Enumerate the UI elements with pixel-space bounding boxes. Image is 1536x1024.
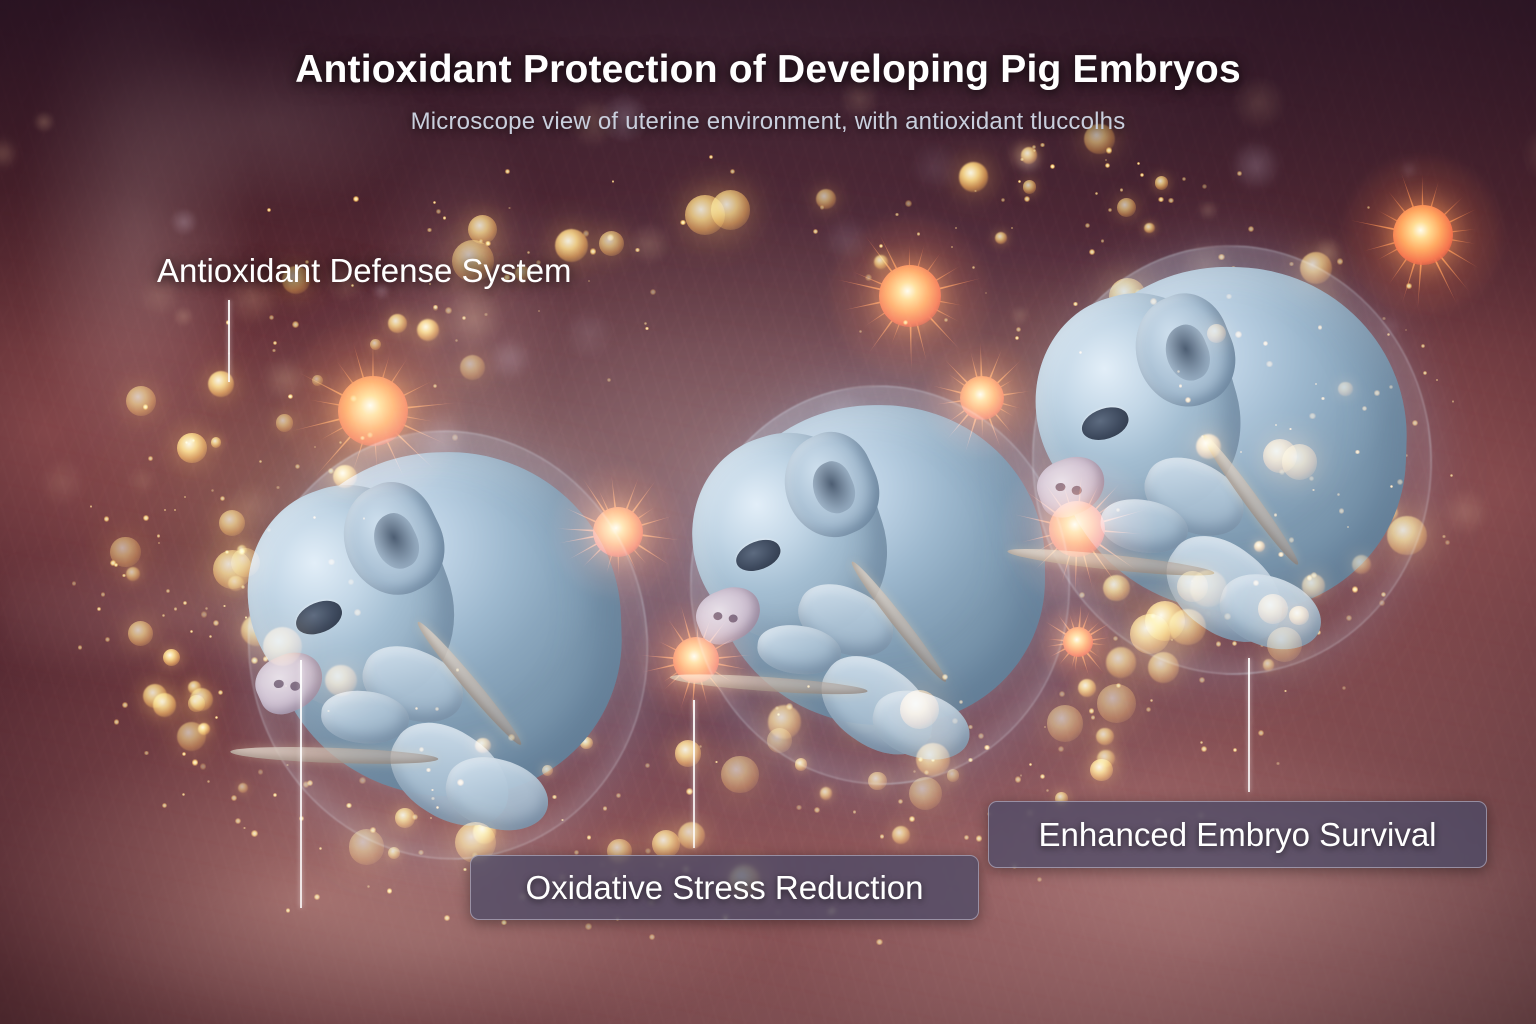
antioxidant-spark [952, 718, 958, 724]
antioxidant-particle [542, 765, 553, 776]
antioxidant-particle [820, 787, 832, 799]
antioxidant-spark [263, 656, 268, 661]
antioxidant-particle [198, 723, 210, 735]
antioxidant-spark [1226, 294, 1232, 300]
antioxidant-particle [1254, 541, 1265, 552]
antioxidant-spark [1105, 163, 1110, 168]
antioxidant-particle [1300, 252, 1332, 284]
antioxidant-spark [288, 395, 291, 398]
antioxidant-spark [231, 795, 237, 801]
antioxidant-spark [267, 208, 271, 212]
antioxidant-spark [314, 894, 320, 900]
antioxidant-spark [583, 230, 590, 237]
antioxidant-spark [213, 620, 219, 626]
antioxidant-spark [1120, 188, 1123, 191]
antioxidant-spark [917, 232, 920, 235]
antioxidant-spark [1311, 572, 1317, 578]
antioxidant-spark [1312, 489, 1314, 491]
antioxidant-particle [1267, 627, 1302, 662]
antioxidant-spark [433, 305, 438, 310]
antioxidant-spark [796, 805, 802, 811]
antioxidant-particle [1282, 444, 1317, 479]
antioxidant-particle [1106, 647, 1136, 677]
antioxidant-spark [272, 349, 276, 353]
antioxidant-spark [307, 780, 313, 786]
antioxidant-spark [1355, 450, 1360, 455]
antioxidant-spark [616, 793, 621, 798]
antioxidant-spark [1397, 479, 1403, 485]
antioxidant-spark [455, 339, 458, 342]
antioxidant-spark [1275, 424, 1277, 426]
antioxidant-spark [183, 601, 187, 605]
leader-line-antioxidant-defense-system-lower [300, 660, 302, 908]
antioxidant-particle [153, 693, 176, 716]
antioxidant-particle [711, 190, 751, 230]
antioxidant-spark [1150, 613, 1156, 619]
antioxidant-spark [273, 341, 278, 346]
antioxidant-spark [1278, 552, 1284, 558]
callout-antioxidant-defense-system: Antioxidant Defense System [157, 252, 572, 290]
antioxidant-particle [1177, 571, 1208, 602]
antioxidant-spark [267, 528, 270, 531]
antioxidant-spark [78, 645, 82, 649]
antioxidant-spark [859, 330, 862, 333]
antioxidant-spark [1337, 258, 1344, 265]
antioxidant-particle [1130, 614, 1170, 654]
antioxidant-spark [1263, 341, 1268, 346]
antioxidant-spark [1309, 476, 1314, 481]
antioxidant-spark [1352, 586, 1358, 592]
antioxidant-particle [916, 743, 950, 777]
antioxidant-spark [215, 716, 218, 719]
antioxidant-particle [219, 510, 245, 536]
callout-oxidative-stress-reduction-label: Oxidative Stress Reduction [525, 869, 923, 907]
antioxidant-particle [126, 567, 140, 581]
antioxidant-spark [431, 797, 434, 800]
antioxidant-spark [1113, 636, 1118, 641]
antioxidant-spark [97, 607, 101, 611]
antioxidant-spark [1116, 508, 1120, 512]
antioxidant-spark [607, 378, 611, 382]
antioxidant-spark [1191, 580, 1193, 582]
antioxidant-spark [462, 316, 466, 320]
antioxidant-spark [367, 432, 373, 438]
antioxidant-spark [1266, 361, 1273, 368]
antioxidant-spark [313, 516, 316, 519]
antioxidant-spark [285, 685, 287, 687]
antioxidant-spark [501, 920, 506, 925]
antioxidant-particle [211, 437, 221, 447]
antioxidant-spark [354, 609, 361, 616]
antioxidant-spark [876, 939, 882, 945]
antioxidant-spark [276, 486, 280, 490]
antioxidant-spark [427, 228, 432, 233]
antioxidant-spark [1279, 469, 1285, 475]
antioxidant-spark [1059, 691, 1065, 697]
antioxidant-spark [1374, 390, 1380, 396]
antioxidant-particle [1207, 324, 1226, 343]
antioxidant-spark [143, 404, 149, 410]
antioxidant-spark [426, 768, 430, 772]
antioxidant-particle [1148, 652, 1179, 683]
antioxidant-spark [328, 559, 334, 565]
antioxidant-spark [1179, 384, 1183, 388]
antioxidant-spark [588, 280, 590, 282]
antioxidant-spark [1342, 686, 1347, 691]
antioxidant-spark [942, 674, 949, 681]
antioxidant-spark [122, 702, 128, 708]
antioxidant-particle [959, 162, 988, 191]
antioxidant-spark [1046, 789, 1049, 792]
antioxidant-particle [652, 830, 680, 858]
antioxidant-spark [1201, 435, 1204, 438]
antioxidant-spark [814, 807, 821, 814]
antioxidant-spark [110, 560, 116, 566]
antioxidant-spark [419, 747, 424, 752]
antioxidant-particle [1023, 180, 1037, 194]
antioxidant-spark [412, 814, 418, 820]
antioxidant-spark [348, 579, 354, 585]
antioxidant-particle [900, 690, 939, 729]
antioxidant-spark [182, 752, 187, 757]
antioxidant-spark [1276, 762, 1280, 766]
antioxidant-spark [350, 395, 357, 402]
antioxidant-spark [865, 274, 872, 281]
antioxidant-spark [1318, 325, 1323, 330]
antioxidant-spark [101, 592, 105, 596]
antioxidant-spark [1020, 774, 1023, 777]
antioxidant-spark [1011, 227, 1013, 229]
antioxidant-spark [590, 248, 596, 254]
antioxidant-particle [795, 758, 808, 771]
antioxidant-spark [286, 908, 291, 913]
antioxidant-spark [235, 818, 241, 824]
antioxidant-spark [431, 789, 433, 791]
antioxidant-spark [220, 496, 225, 501]
antioxidant-spark [1307, 575, 1313, 581]
antioxidant-spark [1274, 513, 1278, 517]
antioxidant-particle [188, 695, 204, 711]
antioxidant-spark [505, 169, 510, 174]
antioxidant-spark [709, 155, 713, 159]
antioxidant-spark [1289, 262, 1294, 267]
antioxidant-spark [1177, 370, 1180, 373]
page-subtitle: Microscope view of uterine environment, … [0, 108, 1536, 136]
antioxidant-spark [650, 289, 656, 295]
antioxidant-spark [1150, 699, 1153, 702]
antioxidant-particle [1196, 434, 1221, 459]
antioxidant-particle [1338, 382, 1353, 397]
antioxidant-spark [1389, 385, 1393, 389]
antioxidant-particle [768, 705, 801, 738]
antioxidant-spark [239, 548, 245, 554]
callout-enhanced-embryo-survival: Enhanced Embryo Survival [988, 801, 1487, 868]
antioxidant-spark [218, 690, 223, 695]
antioxidant-spark [444, 915, 450, 921]
antioxidant-particle [1096, 728, 1114, 746]
antioxidant-spark [327, 710, 330, 713]
antioxidant-particle [1352, 555, 1371, 574]
antioxidant-spark [211, 489, 214, 492]
antioxidant-spark [243, 827, 246, 830]
antioxidant-spark [185, 441, 188, 444]
antioxidant-particle [263, 627, 302, 666]
antioxidant-spark [105, 637, 110, 642]
antioxidant-spark [182, 793, 185, 796]
antioxidant-spark [635, 248, 639, 252]
antioxidant-spark [807, 685, 810, 688]
antioxidant-particle [1078, 679, 1096, 697]
antioxidant-particle [333, 465, 356, 488]
antioxidant-spark [1140, 173, 1145, 178]
antioxidant-spark [1029, 763, 1032, 766]
antioxidant-spark [585, 923, 592, 930]
antioxidant-spark [1347, 526, 1349, 528]
antioxidant-spark [603, 806, 607, 810]
antioxidant-spark [587, 835, 592, 840]
antioxidant-spark [184, 496, 187, 499]
antioxidant-spark [1079, 351, 1082, 354]
antioxidant-spark [959, 700, 963, 704]
antioxidant-particle [675, 740, 702, 767]
antioxidant-particle [995, 232, 1007, 244]
antioxidant-spark [360, 436, 364, 440]
antioxidant-spark [456, 668, 459, 671]
antioxidant-particle [1263, 439, 1298, 474]
antioxidant-spark [1044, 726, 1046, 728]
antioxidant-spark [288, 394, 293, 399]
antioxidant-particle [188, 681, 201, 694]
antioxidant-spark [1240, 451, 1242, 453]
antioxidant-spark [1235, 331, 1242, 338]
antioxidant-spark [1337, 493, 1340, 496]
antioxidant-particle [468, 215, 497, 244]
antioxidant-spark [985, 292, 987, 294]
antioxidant-spark [1185, 397, 1191, 403]
antioxidant-spark [303, 781, 309, 787]
antioxidant-spark [1224, 613, 1231, 620]
antioxidant-spark [1289, 428, 1291, 430]
antioxidant-spark [157, 534, 160, 537]
antioxidant-particle [1289, 606, 1308, 625]
antioxidant-spark [1032, 145, 1036, 149]
antioxidant-spark [1339, 508, 1345, 514]
antioxidant-spark [162, 614, 165, 617]
antioxidant-spark [645, 327, 649, 331]
antioxidant-spark [485, 241, 491, 247]
antioxidant-particle [1263, 659, 1274, 670]
antioxidant-spark [190, 630, 193, 633]
antioxidant-particle [1302, 574, 1326, 598]
antioxidant-spark [918, 757, 923, 762]
antioxidant-spark [158, 542, 161, 545]
leader-line-oxidative-stress-reduction [693, 700, 695, 848]
antioxidant-spark [1105, 159, 1107, 161]
antioxidant-spark [209, 635, 212, 638]
antioxidant-spark [898, 799, 903, 804]
antioxidant-particle [177, 722, 206, 751]
leader-line-enhanced-embryo-survival [1248, 658, 1250, 792]
antioxidant-spark [944, 318, 948, 322]
antioxidant-spark [1390, 485, 1393, 488]
antioxidant-particle [1258, 594, 1288, 624]
antioxidant-particle [417, 319, 439, 341]
antioxidant-particle [1169, 609, 1205, 645]
antioxidant-spark [895, 213, 898, 216]
antioxidant-spark [903, 320, 908, 325]
antioxidant-spark [1315, 383, 1317, 385]
antioxidant-spark [1150, 298, 1157, 305]
antioxidant-spark [1137, 162, 1140, 165]
antioxidant-spark [612, 180, 615, 183]
antioxidant-particle [816, 189, 837, 210]
antioxidant-particle [1090, 759, 1112, 781]
antioxidant-spark [1171, 639, 1173, 641]
page-title: Antioxidant Protection of Developing Pig… [0, 48, 1536, 92]
antioxidant-spark [1362, 406, 1367, 411]
antioxidant-particle [874, 255, 888, 269]
antioxidant-particle [190, 688, 214, 712]
antioxidant-spark [192, 759, 198, 765]
antioxidant-spark [104, 516, 109, 521]
antioxidant-spark [905, 200, 912, 207]
antioxidant-spark [1253, 580, 1259, 586]
antioxidant-particle [276, 414, 294, 432]
antioxidant-spark [430, 817, 432, 819]
leader-line-antioxidant-defense-system [228, 300, 230, 382]
antioxidant-particle [868, 772, 887, 791]
antioxidant-spark [269, 315, 274, 320]
callout-oxidative-stress-reduction: Oxidative Stress Reduction [470, 855, 979, 920]
antioxidant-particle [208, 371, 234, 397]
antioxidant-spark [1382, 317, 1385, 320]
antioxidant-spark [1289, 537, 1294, 542]
antioxidant-spark [370, 827, 376, 833]
antioxidant-spark [1379, 600, 1385, 606]
antioxidant-particle [325, 665, 357, 697]
antioxidant-spark [880, 834, 885, 839]
antioxidant-spark [984, 745, 989, 750]
antioxidant-spark [1387, 333, 1390, 336]
antioxidant-spark [114, 719, 119, 724]
antioxidant-particle [475, 738, 491, 754]
antioxidant-spark [457, 779, 464, 786]
callout-enhanced-embryo-survival-label: Enhanced Embryo Survival [1038, 816, 1436, 854]
antioxidant-spark [1218, 254, 1225, 261]
antioxidant-spark [241, 585, 245, 589]
antioxidant-particle [1021, 147, 1037, 163]
antioxidant-spark [433, 305, 438, 310]
antioxidant-spark [649, 934, 655, 940]
antioxidant-spark [90, 505, 92, 507]
antioxidant-spark [775, 706, 779, 710]
antioxidant-spark [1085, 223, 1090, 228]
antioxidant-spark [363, 517, 365, 519]
antioxidant-spark [435, 707, 439, 711]
antioxidant-particle [238, 783, 249, 794]
antioxidant-spark [1321, 397, 1324, 400]
antioxidant-spark [452, 434, 458, 440]
antioxidant-spark [207, 780, 210, 783]
antioxidant-spark [913, 770, 916, 773]
antioxidant-spark [972, 266, 975, 269]
antioxidant-particle [1190, 570, 1227, 607]
antioxidant-spark [443, 216, 446, 219]
antioxidant-particle [228, 576, 243, 591]
antioxidant-spark [1248, 226, 1254, 232]
antioxidant-spark [1309, 413, 1316, 420]
antioxidant-spark [1412, 420, 1418, 426]
microscope-illustration: Antioxidant Protection of Developing Pig… [0, 0, 1536, 1024]
antioxidant-spark [415, 707, 418, 710]
antioxidant-particle [143, 684, 167, 708]
antioxidant-spark [786, 703, 793, 710]
antioxidant-spark [436, 806, 439, 809]
antioxidant-spark [433, 201, 436, 204]
antioxidant-spark [508, 734, 515, 741]
antioxidant-spark [1018, 180, 1021, 183]
antioxidant-spark [1258, 730, 1264, 736]
antioxidant-particle [1145, 601, 1185, 641]
antioxidant-spark [251, 830, 258, 837]
antioxidant-particle [231, 548, 260, 577]
antioxidant-spark [72, 581, 76, 585]
antioxidant-spark [148, 456, 152, 460]
antioxidant-spark [1058, 746, 1064, 752]
antioxidant-particle [678, 822, 705, 849]
antioxidant-particle [126, 386, 156, 416]
